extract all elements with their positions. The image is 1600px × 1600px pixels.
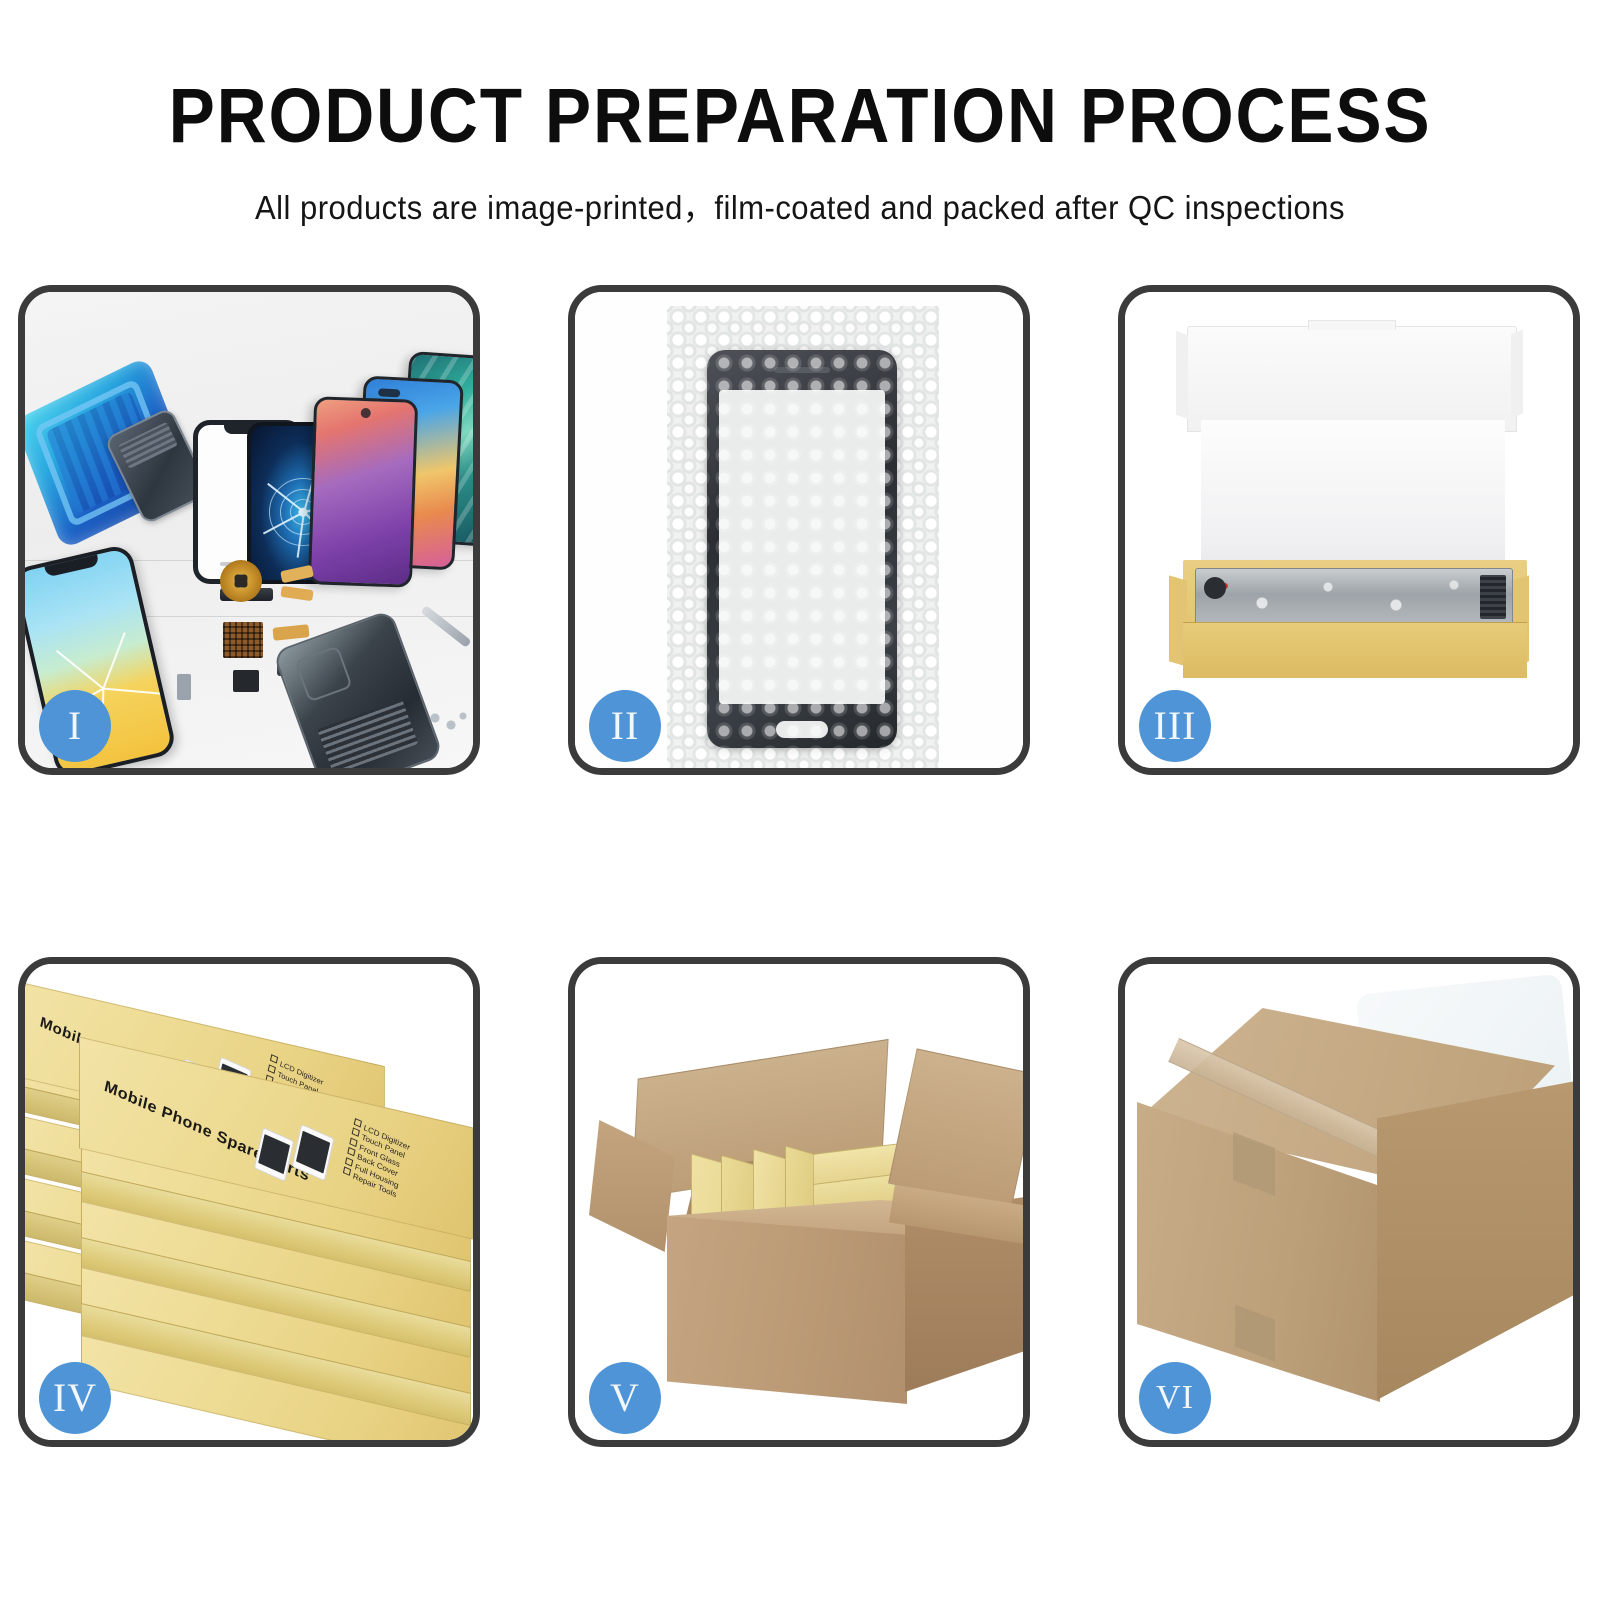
page-title: PRODUCT PREPARATION PROCESS <box>80 78 1520 155</box>
screws-icon <box>429 712 469 732</box>
box-label-checklist: LCD Digitizer Touch Panel Front Glass Ba… <box>342 1118 411 1201</box>
step-badge-5: V <box>589 1362 661 1434</box>
infographic-page: PRODUCT PREPARATION PROCESS All products… <box>0 0 1600 1600</box>
ic-chip-icon <box>223 622 263 658</box>
process-step-panel-2: II <box>568 285 1030 775</box>
process-grid: I II <box>18 285 1582 1435</box>
process-step-panel-3: III <box>1118 285 1580 775</box>
step-badge-6: VI <box>1139 1362 1211 1434</box>
process-step-panel-5: V <box>568 957 1030 1447</box>
sim-tray-icon <box>177 674 191 700</box>
step-badge-4: IV <box>39 1362 111 1434</box>
earpiece-slot-icon <box>774 367 830 373</box>
home-button-icon <box>776 721 828 738</box>
screen-glass-area <box>719 390 885 704</box>
step-badge-1: I <box>39 690 111 762</box>
smartphone-purple-icon <box>308 396 418 588</box>
battery-connector-icon <box>233 670 259 692</box>
vibration-motor-icon <box>220 560 262 602</box>
page-subtitle: All products are image-printed，film-coat… <box>48 181 1552 229</box>
step-badge-2: II <box>589 690 661 762</box>
mailer-box-lid-side <box>1511 330 1523 419</box>
mailer-box-front-face <box>1183 622 1527 678</box>
header: PRODUCT PREPARATION PROCESS All products… <box>0 0 1600 229</box>
carton-front-face <box>667 1216 907 1404</box>
process-step-panel-6: VI <box>1118 957 1580 1447</box>
process-step-panel-4: Mobile Phone Spare Parts LCD Digitizer T… <box>18 957 480 1447</box>
process-step-panel-1: I <box>18 285 480 775</box>
screen-digitizer-icon <box>707 350 897 748</box>
mailer-box-lid-icon <box>1187 326 1517 432</box>
wrapped-screen-in-box-icon <box>1195 568 1513 626</box>
step-badge-3: III <box>1139 690 1211 762</box>
foam-padding-icon <box>1201 420 1505 572</box>
